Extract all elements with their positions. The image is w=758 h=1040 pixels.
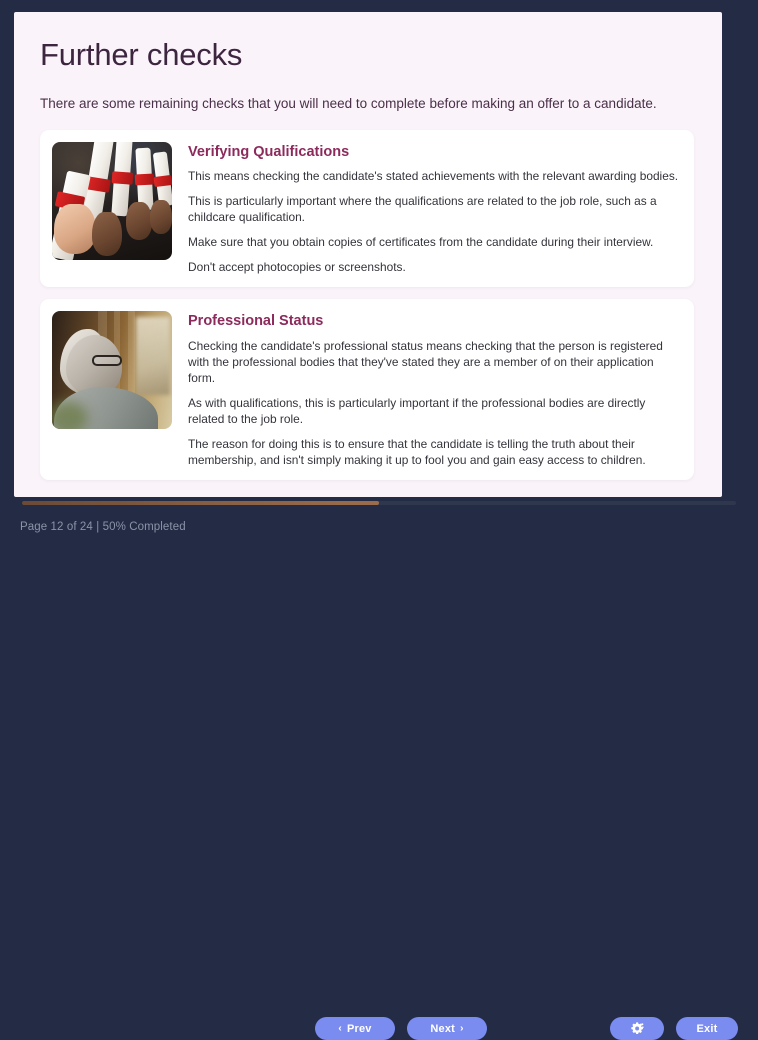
page-title: Further checks [40, 38, 694, 72]
content-card-professional-status: Professional Status Checking the candida… [40, 299, 694, 480]
card-heading: Verifying Qualifications [188, 144, 680, 161]
prev-button[interactable]: ‹ Prev [315, 1017, 395, 1040]
progress-bar-track[interactable] [22, 501, 736, 505]
card-body: Professional Status Checking the candida… [188, 311, 680, 468]
gear-icon [630, 1022, 645, 1035]
progress-status-text: Page 12 of 24 | 50% Completed [20, 521, 186, 533]
exit-button[interactable]: Exit [676, 1017, 738, 1040]
card-paragraph: This means checking the candidate's stat… [188, 168, 680, 184]
content-card-verifying-qualifications: Verifying Qualifications This means chec… [40, 130, 694, 288]
chevron-left-icon: ‹ [338, 1024, 342, 1034]
card-heading: Professional Status [188, 313, 680, 330]
slide-content-panel: Further checks There are some remaining … [14, 12, 722, 497]
card-paragraph: Make sure that you obtain copies of cert… [188, 234, 680, 250]
card-paragraph: As with qualifications, this is particul… [188, 395, 680, 427]
card-paragraph: Don't accept photocopies or screenshots. [188, 259, 680, 275]
slide-intro-text: There are some remaining checks that you… [40, 94, 694, 114]
card-paragraph: Checking the candidate's professional st… [188, 338, 680, 386]
elderly-woman-photo [52, 311, 172, 429]
course-player-window: Further checks There are some remaining … [0, 0, 758, 560]
card-paragraph: This is particularly important where the… [188, 193, 680, 225]
bottom-toolbar: Page 12 of 24 | 50% Completed ‹ Prev Nex… [0, 506, 758, 560]
settings-button[interactable] [610, 1017, 664, 1040]
prev-button-label: Prev [347, 1023, 372, 1035]
navigation-button-group: ‹ Prev Next › [315, 1017, 487, 1040]
progress-bar-fill [22, 501, 379, 505]
next-button[interactable]: Next › [407, 1017, 487, 1040]
utility-button-group: Exit [610, 1017, 738, 1040]
card-body: Verifying Qualifications This means chec… [188, 142, 680, 276]
exit-button-label: Exit [697, 1023, 718, 1035]
next-button-label: Next [430, 1023, 455, 1035]
card-paragraph: The reason for doing this is to ensure t… [188, 436, 680, 468]
chevron-right-icon: › [460, 1024, 464, 1034]
graduation-diplomas-photo [52, 142, 172, 260]
